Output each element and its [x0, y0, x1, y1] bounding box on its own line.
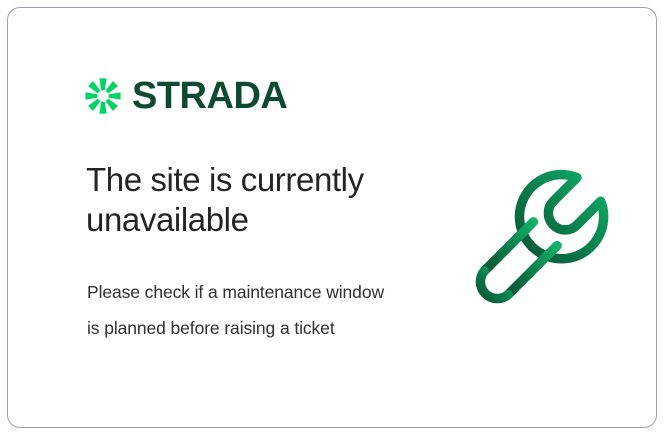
strada-logo: STRADA [83, 74, 287, 118]
status-card: STRADA The site is currently unavailable… [7, 7, 657, 428]
wrench-icon [463, 163, 616, 316]
error-page: STRADA The site is currently unavailable… [0, 0, 666, 436]
strada-starburst-icon [83, 76, 123, 116]
logo-wordmark: STRADA [132, 77, 287, 115]
page-description: Please check if a maintenance window is … [87, 275, 392, 347]
page-title: The site is currently unavailable [86, 160, 416, 240]
wrench-illustration [463, 163, 616, 316]
